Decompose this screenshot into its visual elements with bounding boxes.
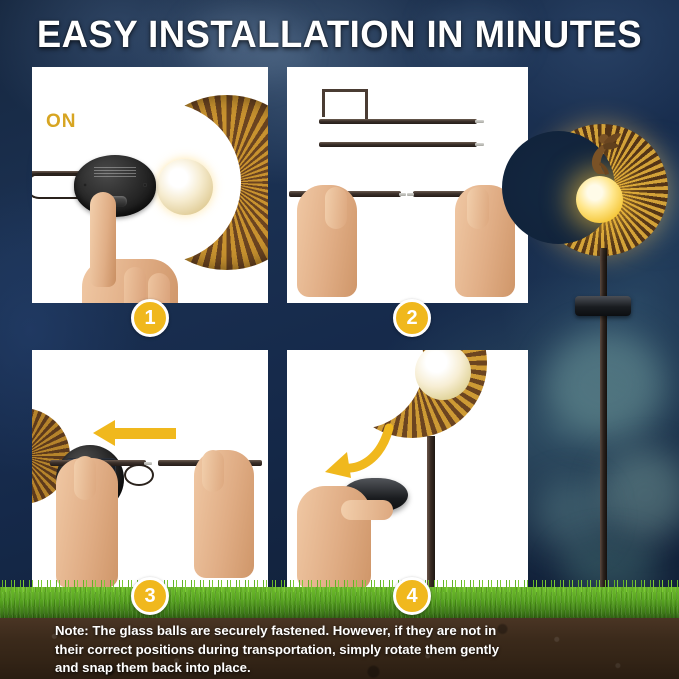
- page-title: EASY INSTALLATION IN MINUTES: [14, 14, 666, 57]
- step-badge-2: 2: [393, 299, 431, 337]
- step-panel-3: [32, 350, 268, 600]
- step-panel-2: [287, 67, 528, 303]
- glass-ball-icon: [157, 159, 213, 215]
- rod-connector-tip: [475, 143, 484, 146]
- thumb-left: [74, 456, 96, 500]
- step-panel-4: [287, 350, 528, 600]
- thumb-right: [467, 187, 489, 229]
- wire-loop-icon: [32, 173, 80, 199]
- rod-connector-tip: [399, 193, 406, 196]
- finger: [124, 267, 146, 303]
- stake-rod-lower: [319, 142, 477, 147]
- index-finger: [90, 192, 116, 287]
- on-label: ON: [46, 111, 77, 133]
- arrow-left-icon: [114, 428, 176, 439]
- fairy-figure-icon: [578, 130, 622, 182]
- stake-rod-upper: [319, 119, 477, 124]
- thumb-left: [325, 187, 347, 229]
- step-badge-3: 3: [131, 577, 169, 615]
- product-solar-panel: [575, 296, 631, 316]
- battery-box-label: [94, 167, 136, 177]
- rod-connector-tip: [407, 193, 414, 196]
- thumb: [341, 500, 393, 520]
- stake-hook: [322, 89, 325, 117]
- note-text: Note: The glass balls are securely faste…: [55, 622, 505, 678]
- screw-icon: [143, 183, 147, 187]
- stake-pole: [427, 436, 435, 600]
- wire-loop-icon: [124, 464, 154, 486]
- stake-hook: [365, 89, 368, 121]
- stake-hook: [322, 89, 367, 92]
- rod-connector-tip: [475, 120, 484, 123]
- product-glass-ball-icon: [576, 176, 623, 223]
- infographic-canvas: EASY INSTALLATION IN MINUTES ON OFF 1: [0, 0, 679, 679]
- screw-icon: [83, 183, 87, 187]
- step-badge-1: 1: [131, 299, 169, 337]
- thumb-right: [202, 450, 224, 492]
- step-panel-1: ON OFF: [32, 67, 268, 303]
- step-badge-4: 4: [393, 577, 431, 615]
- arrow-curved-icon: [317, 422, 397, 480]
- grass-strip: [0, 587, 679, 619]
